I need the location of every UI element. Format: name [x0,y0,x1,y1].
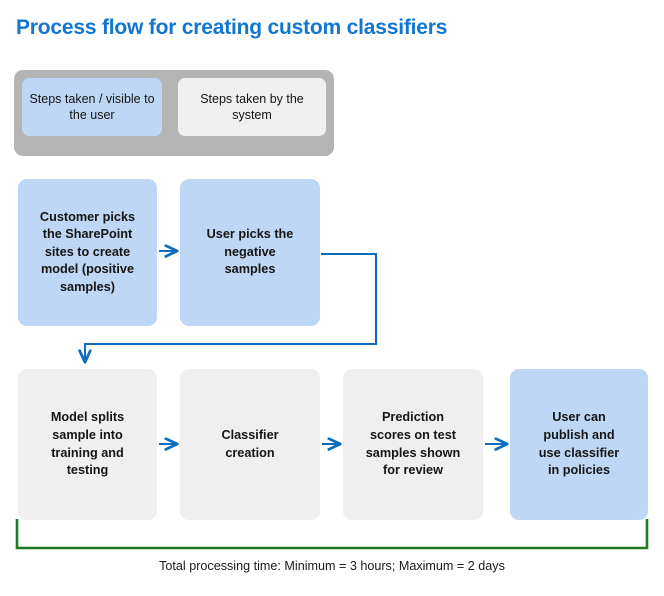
total-time-bracket [17,519,647,548]
flow-step-prediction-scores: Prediction scores on test samples shown … [343,369,483,520]
flow-step-customer-picks-sites: Customer picks the SharePoint sites to c… [18,179,157,326]
legend-container: Steps taken / visible to the user Steps … [14,70,334,156]
flow-step-classifier-creation: Classifier creation [180,369,320,520]
flow-step-user-can-publish: User can publish and use classifier in p… [510,369,648,520]
total-processing-time-caption: Total processing time: Minimum = 3 hours… [0,559,664,573]
flow-step-user-picks-negative-samples: User picks the negative samples [180,179,320,326]
legend-item-system-steps: Steps taken by the system [178,78,326,136]
legend-item-user-steps: Steps taken / visible to the user [22,78,162,136]
page-title: Process flow for creating custom classif… [16,16,447,40]
flow-step-model-splits-sample: Model splits sample into training and te… [18,369,157,520]
diagram-canvas: Process flow for creating custom classif… [0,0,664,596]
